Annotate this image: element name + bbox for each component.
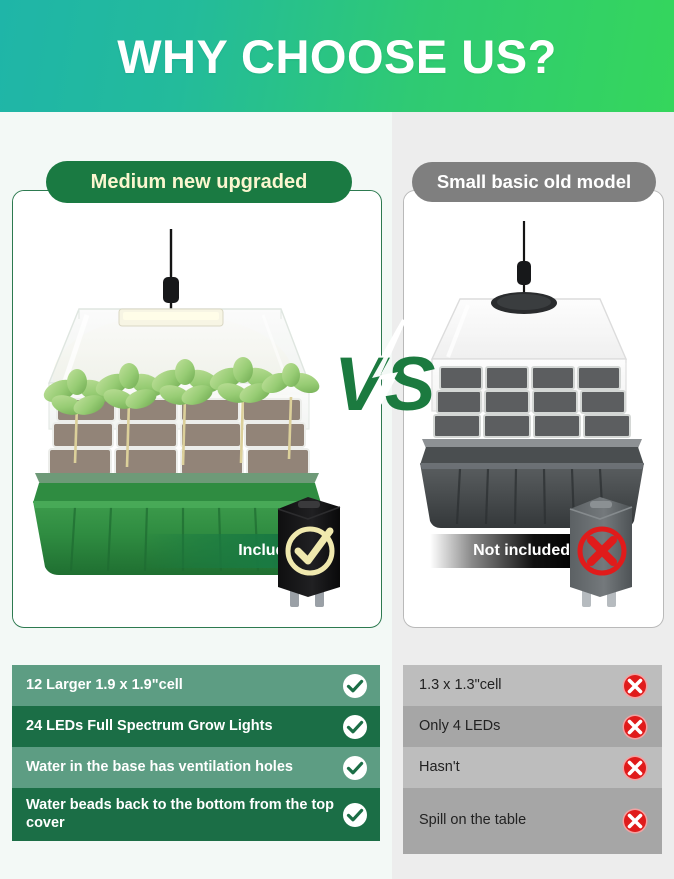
x-circle-icon: [622, 673, 648, 699]
feature-label: 24 LEDs Full Spectrum Grow Lights: [26, 709, 342, 745]
feature-row: Only 4 LEDs: [403, 706, 662, 747]
check-circle-icon: [342, 673, 368, 699]
x-circle-icon: [622, 755, 648, 781]
check-circle-icon: [342, 714, 368, 740]
power-adapter-icon: [562, 491, 638, 609]
feature-row: Water in the base has ventilation holes: [12, 747, 380, 788]
feature-row: Hasn't: [403, 747, 662, 788]
page-title: WHY CHOOSE US?: [117, 33, 557, 80]
check-circle-icon: [342, 755, 368, 781]
right-feature-list: 1.3 x 1.3"cell Only 4 LEDs Hasn't Spill …: [403, 665, 662, 854]
not-included-power-adapter: [562, 491, 638, 614]
feature-row: Spill on the table: [403, 788, 662, 854]
left-badge-label: Medium new upgraded: [91, 171, 308, 194]
x-circle-icon: [622, 714, 648, 740]
not-included-banner: Not included: [430, 534, 582, 568]
feature-label: Hasn't: [419, 750, 622, 786]
feature-row: Water beads back to the bottom from the …: [12, 788, 380, 841]
right-product-badge: Small basic old model: [412, 162, 656, 202]
feature-label: Only 4 LEDs: [419, 709, 622, 745]
feature-label: Water in the base has ventilation holes: [26, 750, 342, 786]
power-adapter-icon: [270, 491, 346, 609]
feature-label: Water beads back to the bottom from the …: [26, 788, 342, 841]
included-power-adapter: [270, 491, 346, 614]
soil-cell-grid: [432, 363, 632, 441]
left-feature-list: 12 Larger 1.9 x 1.9"cell 24 LEDs Full Sp…: [12, 665, 380, 841]
feature-label: 12 Larger 1.9 x 1.9"cell: [26, 668, 342, 704]
feature-label: 1.3 x 1.3"cell: [419, 668, 622, 704]
feature-row: 12 Larger 1.9 x 1.9"cell: [12, 665, 380, 706]
feature-label: Spill on the table: [419, 803, 622, 839]
x-circle-icon: [622, 808, 648, 834]
feature-row: 1.3 x 1.3"cell: [403, 665, 662, 706]
left-product-badge: Medium new upgraded: [46, 161, 352, 203]
page-header: WHY CHOOSE US?: [0, 0, 674, 112]
feature-row: 24 LEDs Full Spectrum Grow Lights: [12, 706, 380, 747]
right-badge-label: Small basic old model: [437, 171, 631, 193]
check-circle-icon: [342, 802, 368, 828]
